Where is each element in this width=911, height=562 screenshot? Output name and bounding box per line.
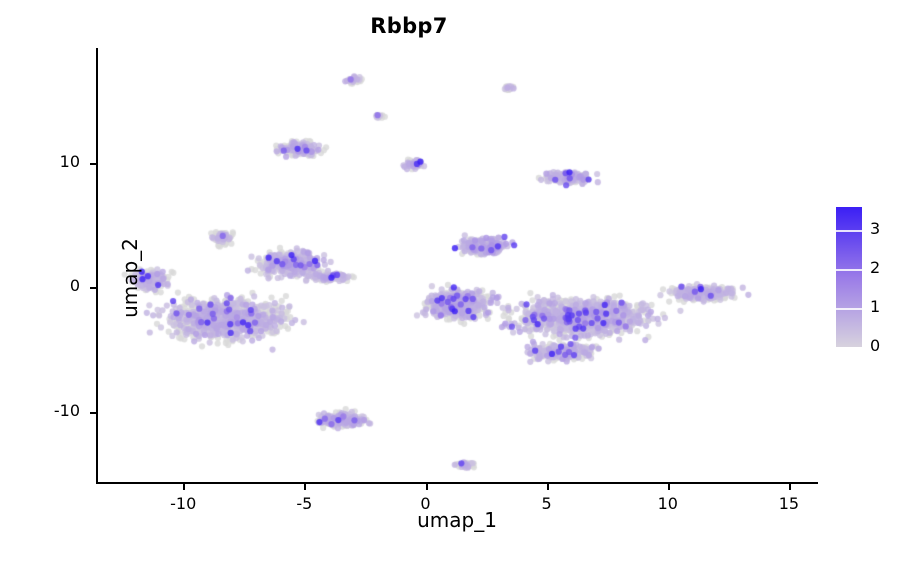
x-tick-mark	[789, 484, 791, 490]
y-tick-label: 0	[20, 276, 80, 295]
x-axis-spine	[96, 482, 818, 484]
x-tick-mark	[183, 484, 185, 490]
plot-axes: -10-5051015 100-10 umap_2	[96, 48, 818, 484]
colorbar-tick-label: 2	[870, 258, 904, 277]
x-tick-mark	[547, 484, 549, 490]
y-tick-mark	[90, 287, 96, 289]
y-tick-label: 10	[20, 152, 80, 171]
page-title: Rbbp7	[0, 14, 818, 38]
y-axis-spine	[96, 48, 98, 484]
x-axis-label: umap_1	[96, 508, 818, 532]
scatter-plot-canvas	[96, 48, 818, 484]
colorbar-tick-mark	[836, 230, 862, 232]
colorbar-gradient	[836, 207, 862, 347]
feature-plot-figure: Rbbp7 -10-5051015 100-10 umap_2 umap_1 0…	[0, 0, 911, 562]
colorbar-tick-label: 3	[870, 219, 904, 238]
y-tick-label: -10	[20, 401, 80, 420]
y-tick-mark	[90, 163, 96, 165]
colorbar-tick-mark	[836, 308, 862, 310]
x-tick-mark	[304, 484, 306, 490]
y-tick-mark	[90, 412, 96, 414]
colorbar-tick-mark	[836, 269, 862, 271]
x-tick-mark	[426, 484, 428, 490]
colorbar-tick-label: 0	[870, 336, 904, 355]
y-axis-label: umap_2	[118, 158, 142, 398]
x-tick-mark	[668, 484, 670, 490]
colorbar-tick-label: 1	[870, 297, 904, 316]
colorbar-legend: 0123	[836, 207, 906, 349]
